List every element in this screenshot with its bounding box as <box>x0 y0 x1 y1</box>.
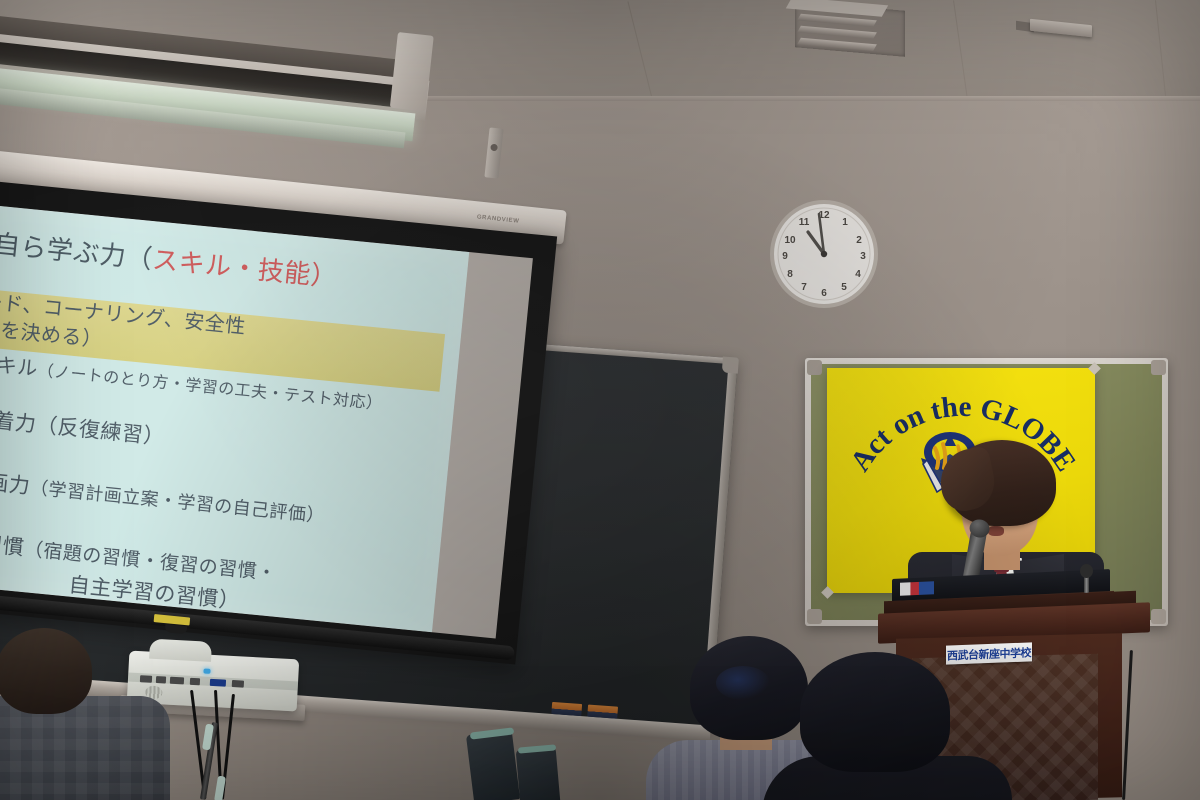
svg-text:10: 10 <box>784 235 796 246</box>
board-corner <box>807 609 822 624</box>
ceiling-air-vent-icon <box>795 1 905 57</box>
chair-back[interactable] <box>466 729 520 800</box>
screen-surface: の自ら学ぶ力（スキル・技能） ピード、コーナリング、安全性 価値を決める） 習ス… <box>0 204 533 638</box>
speaker-mouth <box>988 526 1004 536</box>
svg-text:1: 1 <box>842 217 848 228</box>
fluorescent-light-fixture <box>0 14 450 154</box>
projector-power-led-icon <box>203 668 210 673</box>
screen-brand-label: GRANDVIEW <box>476 214 519 224</box>
slide-bullet-4: 学習習慣（宿題の習慣・復習の習慣・ <box>0 530 277 584</box>
audience-person-left <box>0 628 174 800</box>
svg-text:8: 8 <box>787 269 793 280</box>
audience-person-right <box>790 652 1010 800</box>
svg-text:11: 11 <box>799 217 810 228</box>
chalk-eraser[interactable] <box>587 705 618 719</box>
svg-text:3: 3 <box>860 251 866 262</box>
chair-back[interactable] <box>516 746 561 800</box>
classroom-photo-scene: 12 1 2 3 4 5 6 7 8 9 10 11 GRANDVIEW <box>0 0 1200 800</box>
audience-right-head <box>800 652 950 772</box>
projected-slide: の自ら学ぶ力（スキル・技能） ピード、コーナリング、安全性 価値を決める） 習ス… <box>0 204 469 632</box>
svg-text:2: 2 <box>856 235 862 246</box>
svg-text:5: 5 <box>841 282 847 293</box>
svg-text:7: 7 <box>801 282 807 293</box>
slide-content: の自ら学ぶ力（スキル・技能） ピード、コーナリング、安全性 価値を決める） 習ス… <box>0 230 459 632</box>
projection-screen: の自ら学ぶ力（スキル・技能） ピード、コーナリング、安全性 価値を決める） 習ス… <box>0 178 557 664</box>
podium-cable <box>1122 650 1133 800</box>
laptop-sticker <box>900 581 934 596</box>
svg-text:9: 9 <box>782 251 788 262</box>
wall-clock: 12 1 2 3 4 5 6 7 8 9 10 11 <box>768 198 880 310</box>
slide-bullet-2: 習定着力（反復練習） <box>0 406 166 448</box>
audience-center-hair-highlight <box>716 666 770 700</box>
board-corner <box>807 360 822 375</box>
svg-text:6: 6 <box>821 288 827 299</box>
chalk-eraser[interactable] <box>551 702 582 716</box>
audience-left-head <box>0 628 92 714</box>
board-corner <box>1151 609 1166 624</box>
slide-title: の自ら学ぶ力（スキル・技能） <box>0 229 459 303</box>
svg-text:4: 4 <box>855 269 861 280</box>
slide-bullet-3: 習計画力（学習計画立案・学習の自己評価） <box>0 468 326 527</box>
board-corner <box>1151 360 1166 375</box>
